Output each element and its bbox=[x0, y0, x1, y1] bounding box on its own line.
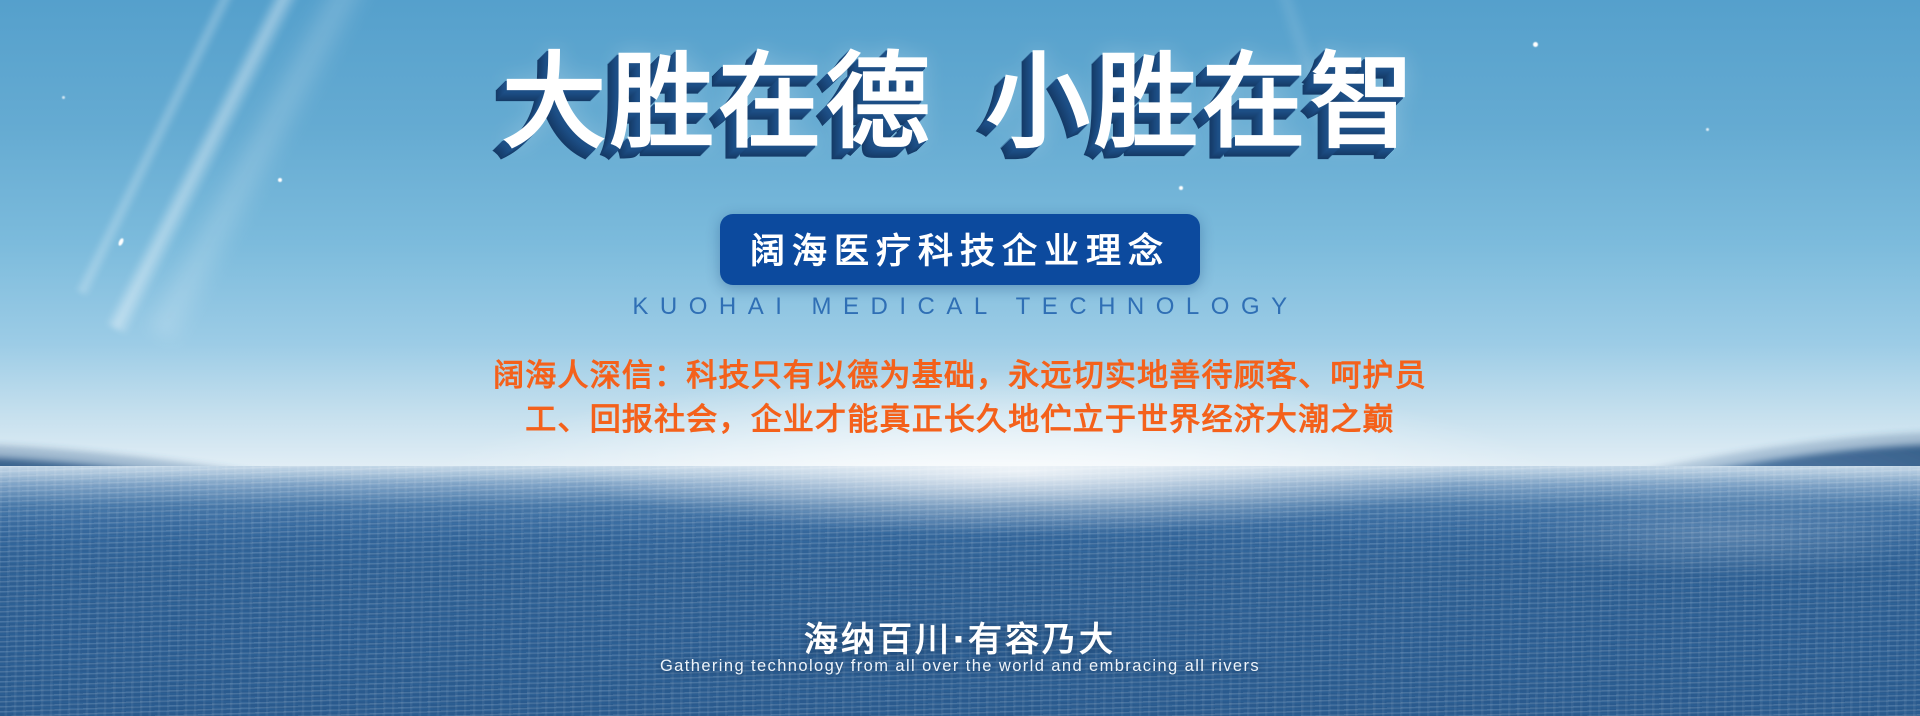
page-title: 大胜在德小胜在智 bbox=[0, 46, 1920, 158]
banner-content: 大胜在德小胜在智 阔海医疗科技企业理念 KUOHAI MEDICAL TECHN… bbox=[0, 0, 1920, 716]
badge-container: 阔海医疗科技企业理念 bbox=[0, 214, 1920, 285]
status-badge: 阔海医疗科技企业理念 bbox=[720, 214, 1200, 285]
main-title-right: 小胜在智 bbox=[986, 41, 1418, 163]
footer-chinese-motto: 海纳百川·有容乃大 bbox=[0, 612, 1920, 661]
slogan-block: 阔海人深信：科技只有以德为基础，永远切实地善待顾客、呵护员 工、回报社会，企业才… bbox=[0, 354, 1920, 442]
slogan-line-2: 工、回报社会，企业才能真正长久地伫立于世界经济大潮之巅 bbox=[0, 398, 1920, 442]
hero-banner: 大胜在德小胜在智 阔海医疗科技企业理念 KUOHAI MEDICAL TECHN… bbox=[0, 0, 1920, 716]
english-subtitle: KUOHAI MEDICAL TECHNOLOGY bbox=[0, 293, 1920, 321]
main-title-left: 大胜在德 bbox=[502, 41, 934, 163]
footer-english-motto: Gathering technology from all over the w… bbox=[0, 657, 1920, 676]
slogan-line-1: 阔海人深信：科技只有以德为基础，永远切实地善待顾客、呵护员 bbox=[0, 354, 1920, 398]
